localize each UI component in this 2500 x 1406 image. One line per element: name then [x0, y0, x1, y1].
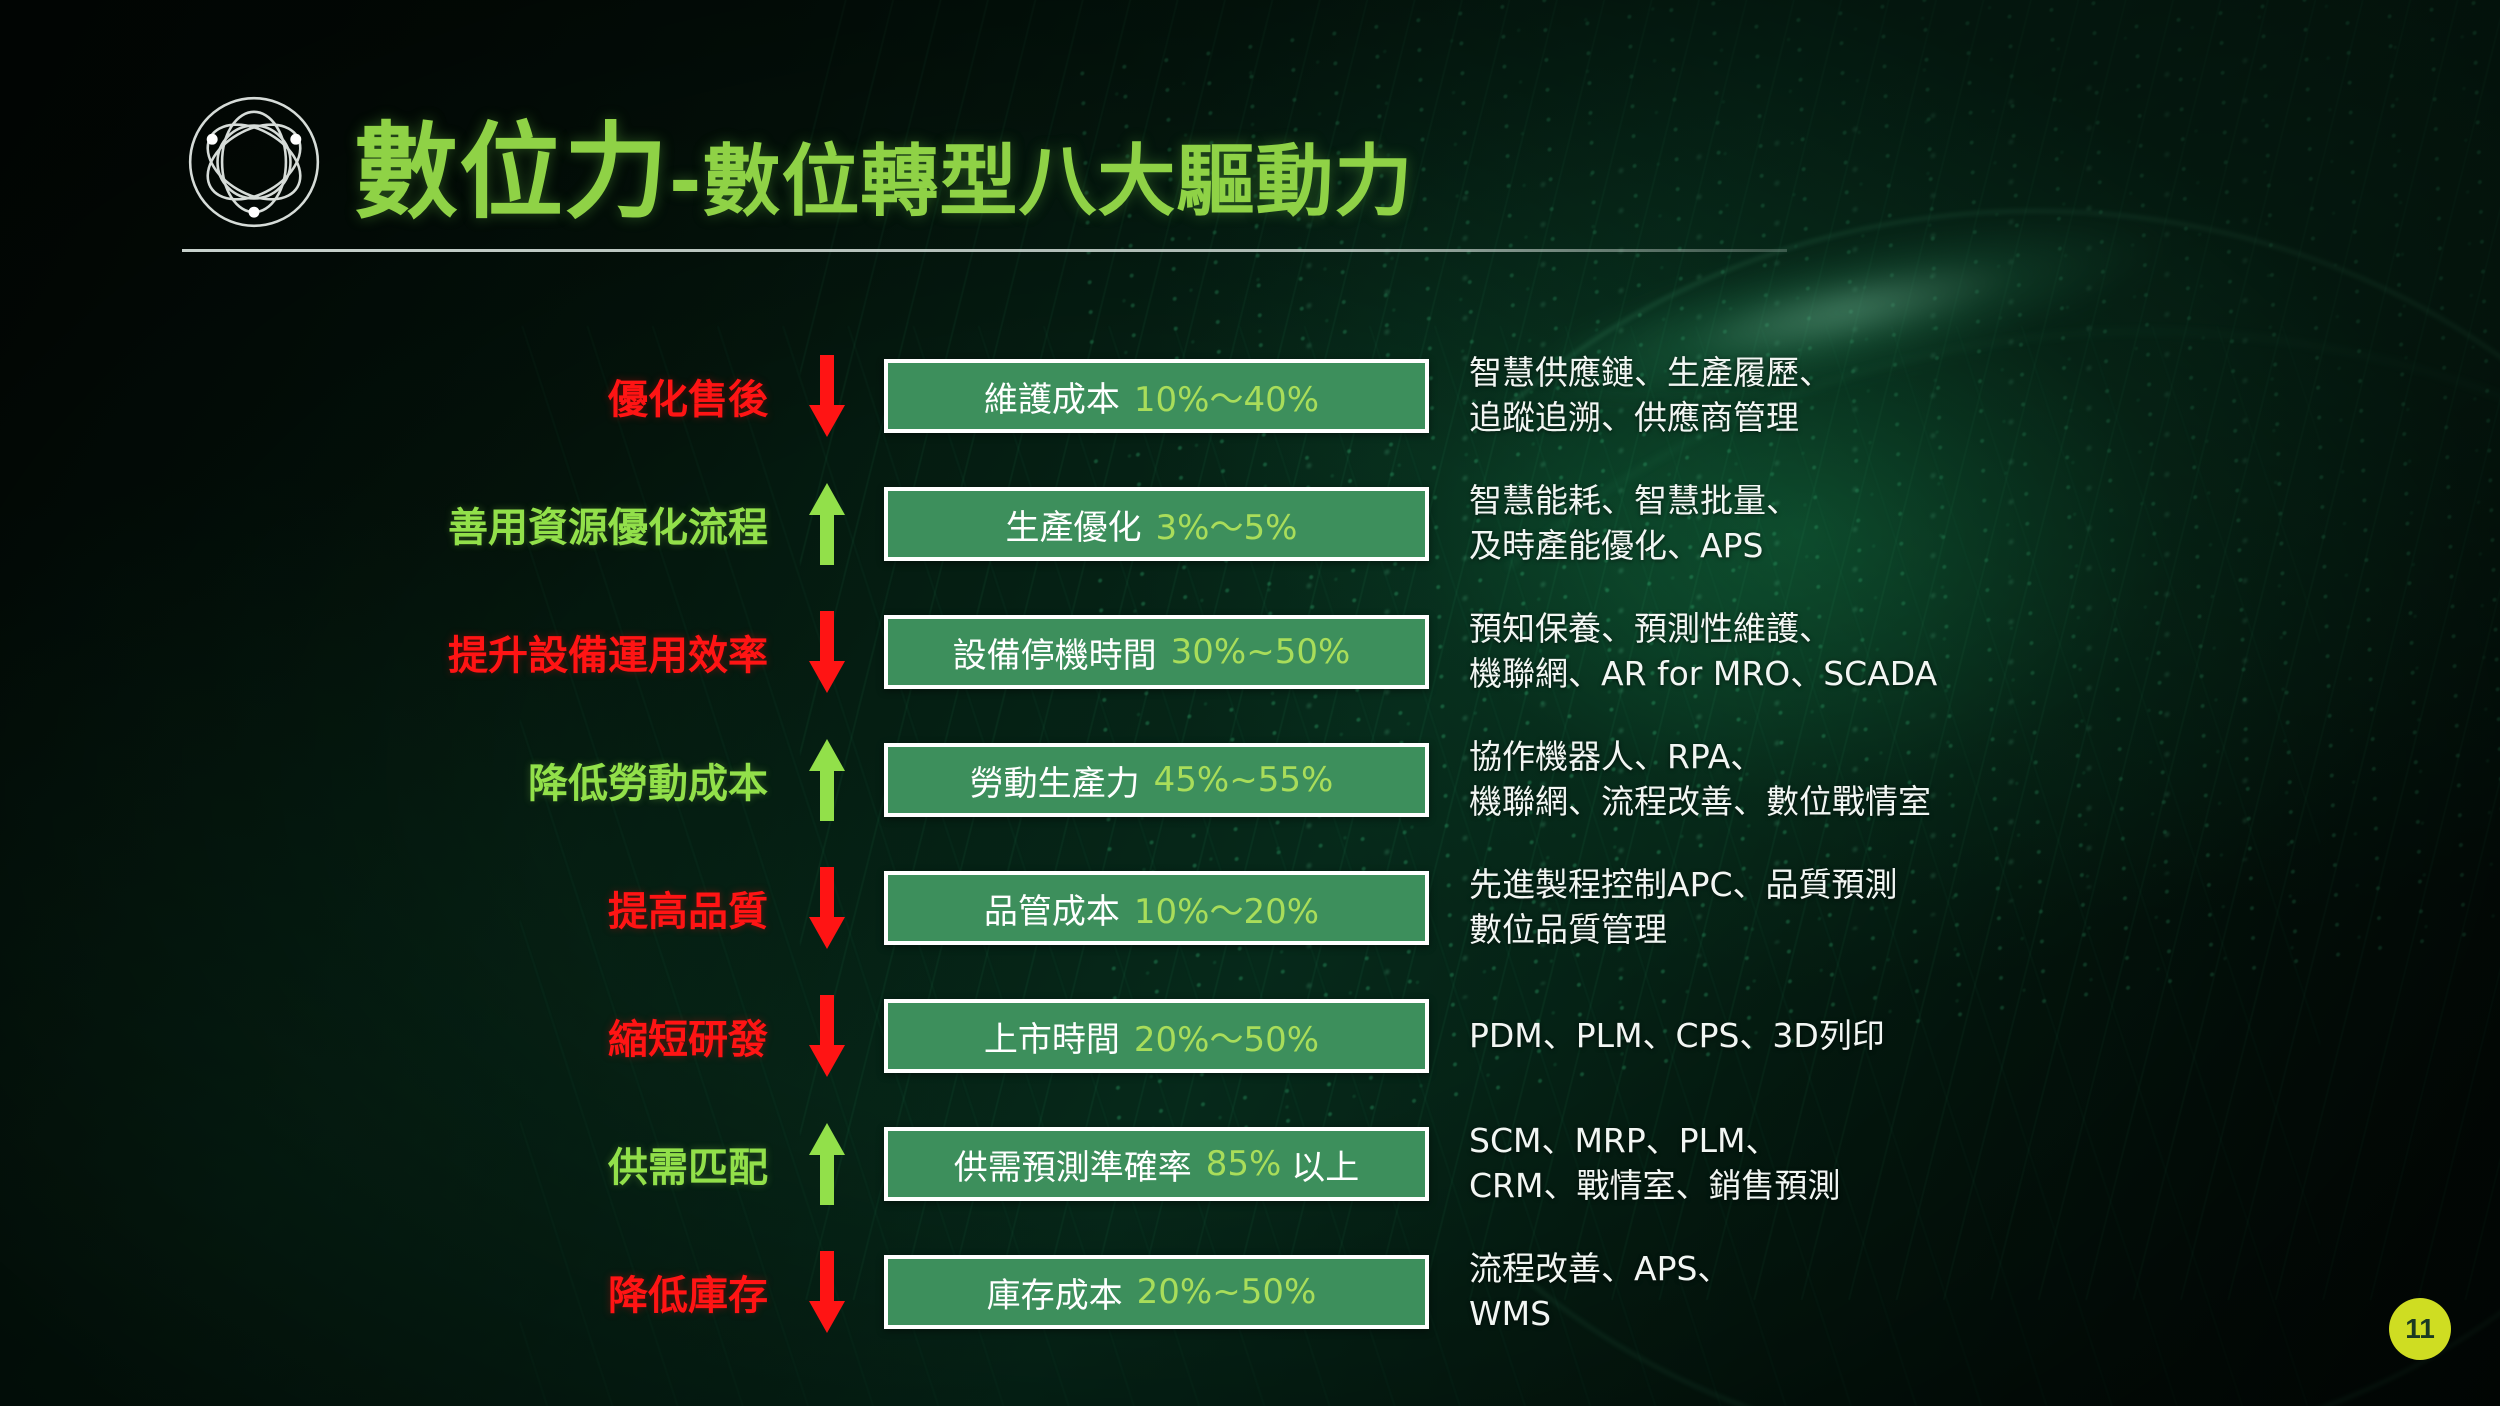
technology-line: WMS — [1469, 1292, 2500, 1337]
metric-value: 20%~50% — [1137, 1272, 1317, 1312]
driver-label: 提升設備運用效率 — [0, 623, 790, 681]
driver-label: 優化售後 — [0, 367, 790, 425]
arrow-up-icon — [790, 737, 864, 823]
metric-value: 10%～40% — [1134, 372, 1319, 421]
technology-line: 機聯網、流程改善、數位戰情室 — [1469, 780, 2500, 825]
driver-row: 善用資源優化流程 生產優化 3%～5% 智慧能耗、智慧批量、 及時產能優化、AP… — [0, 460, 2500, 588]
driver-row: 供需匹配 供需預測準確率 85% 以上 SCM、MRP、PLM、 CRM、戰情室… — [0, 1100, 2500, 1228]
arrow-down-icon — [790, 1249, 864, 1335]
metric-label: 供需預測準確率 — [954, 1140, 1192, 1189]
metric-box: 生產優化 3%～5% — [884, 487, 1429, 561]
arrow-down-icon — [790, 609, 864, 695]
technology-line: PDM、PLM、CPS、3D列印 — [1469, 1014, 2500, 1059]
arrow-down-icon — [790, 993, 864, 1079]
technology-line: 先進製程控制APC、品質預測 — [1469, 863, 2500, 908]
metric-box: 品管成本 10%～20% — [884, 871, 1429, 945]
technology-list: 智慧供應鏈、生產履歷、 追蹤追溯、供應商管理 — [1469, 351, 2500, 441]
technology-line: 流程改善、APS、 — [1469, 1247, 2500, 1292]
technology-list: 流程改善、APS、 WMS — [1469, 1247, 2500, 1337]
metric-value: 20%～50% — [1134, 1012, 1319, 1061]
metric-box: 上市時間 20%～50% — [884, 999, 1429, 1073]
page-title: 數位力-數位轉型八大驅動力 — [354, 87, 1413, 238]
driver-row: 優化售後 維護成本 10%～40% 智慧供應鏈、生產履歷、 追蹤追溯、供應商管理 — [0, 332, 2500, 460]
driver-row: 縮短研發 上市時間 20%～50% PDM、PLM、CPS、3D列印 — [0, 972, 2500, 1100]
metric-label: 設備停機時間 — [953, 628, 1157, 677]
metric-label: 庫存成本 — [987, 1268, 1123, 1317]
driver-label: 善用資源優化流程 — [0, 495, 790, 553]
metric-value: 30%~50% — [1171, 632, 1351, 672]
driver-row: 降低勞動成本 勞動生產力 45%~55% 協作機器人、RPA、 機聯網、流程改善… — [0, 716, 2500, 844]
driver-row: 提升設備運用效率 設備停機時間 30%~50% 預知保養、預測性維護、 機聯網、… — [0, 588, 2500, 716]
technology-list: 先進製程控制APC、品質預測 數位品質管理 — [1469, 863, 2500, 953]
metric-label: 品管成本 — [984, 884, 1120, 933]
driver-label: 降低庫存 — [0, 1263, 790, 1321]
metric-value: 3%～5% — [1156, 500, 1298, 549]
arrow-down-icon — [790, 353, 864, 439]
technology-line: 及時產能優化、APS — [1469, 524, 2500, 569]
metric-label: 維護成本 — [984, 372, 1120, 421]
technology-line: SCM、MRP、PLM、 — [1469, 1119, 2500, 1164]
driver-label: 縮短研發 — [0, 1007, 790, 1065]
metric-box: 庫存成本 20%~50% — [884, 1255, 1429, 1329]
metric-label: 上市時間 — [984, 1012, 1120, 1061]
technology-line: 智慧能耗、智慧批量、 — [1469, 479, 2500, 524]
metric-box: 維護成本 10%～40% — [884, 359, 1429, 433]
metric-value: 85% — [1206, 1144, 1282, 1184]
slide-canvas: 數位力-數位轉型八大驅動力 優化售後 維護成本 10%～40% 智慧供應鏈、生產… — [0, 0, 2500, 1406]
driver-rows: 優化售後 維護成本 10%～40% 智慧供應鏈、生產履歷、 追蹤追溯、供應商管理… — [0, 332, 2500, 1356]
technology-line: 協作機器人、RPA、 — [1469, 735, 2500, 780]
metric-value: 10%～20% — [1134, 884, 1319, 933]
arrow-up-icon — [790, 481, 864, 567]
driver-label: 降低勞動成本 — [0, 751, 790, 809]
atom-orbital-icon — [178, 86, 330, 238]
page-number-badge: 11 — [2389, 1298, 2451, 1360]
driver-row: 降低庫存 庫存成本 20%~50% 流程改善、APS、 WMS — [0, 1228, 2500, 1356]
technology-list: SCM、MRP、PLM、 CRM、戰情室、銷售預測 — [1469, 1119, 2500, 1209]
metric-box: 供需預測準確率 85% 以上 — [884, 1127, 1429, 1201]
technology-list: 預知保養、預測性維護、 機聯網、AR for MRO、SCADA — [1469, 607, 2500, 697]
metric-suffix: 以上 — [1291, 1140, 1359, 1189]
title-sub: -數位轉型八大驅動力 — [669, 137, 1413, 227]
driver-label: 供需匹配 — [0, 1135, 790, 1193]
arrow-up-icon — [790, 1121, 864, 1207]
driver-label: 提高品質 — [0, 879, 790, 937]
technology-line: 智慧供應鏈、生產履歷、 — [1469, 351, 2500, 396]
metric-box: 勞動生產力 45%~55% — [884, 743, 1429, 817]
technology-list: PDM、PLM、CPS、3D列印 — [1469, 1014, 2500, 1059]
title-divider — [182, 249, 1787, 252]
technology-list: 智慧能耗、智慧批量、 及時產能優化、APS — [1469, 479, 2500, 569]
slide-header: 數位力-數位轉型八大驅動力 — [178, 86, 1413, 238]
arrow-down-icon — [790, 865, 864, 951]
technology-line: 數位品質管理 — [1469, 908, 2500, 953]
technology-line: 追蹤追溯、供應商管理 — [1469, 396, 2500, 441]
technology-line: CRM、戰情室、銷售預測 — [1469, 1164, 2500, 1209]
driver-row: 提高品質 品管成本 10%～20% 先進製程控制APC、品質預測 數位品質管理 — [0, 844, 2500, 972]
metric-value: 45%~55% — [1154, 760, 1334, 800]
technology-line: 預知保養、預測性維護、 — [1469, 607, 2500, 652]
title-main: 數位力 — [354, 111, 669, 233]
technology-line: 機聯網、AR for MRO、SCADA — [1469, 652, 2500, 697]
metric-box: 設備停機時間 30%~50% — [884, 615, 1429, 689]
technology-list: 協作機器人、RPA、 機聯網、流程改善、數位戰情室 — [1469, 735, 2500, 825]
metric-label: 勞動生產力 — [970, 756, 1140, 805]
metric-label: 生產優化 — [1006, 500, 1142, 549]
